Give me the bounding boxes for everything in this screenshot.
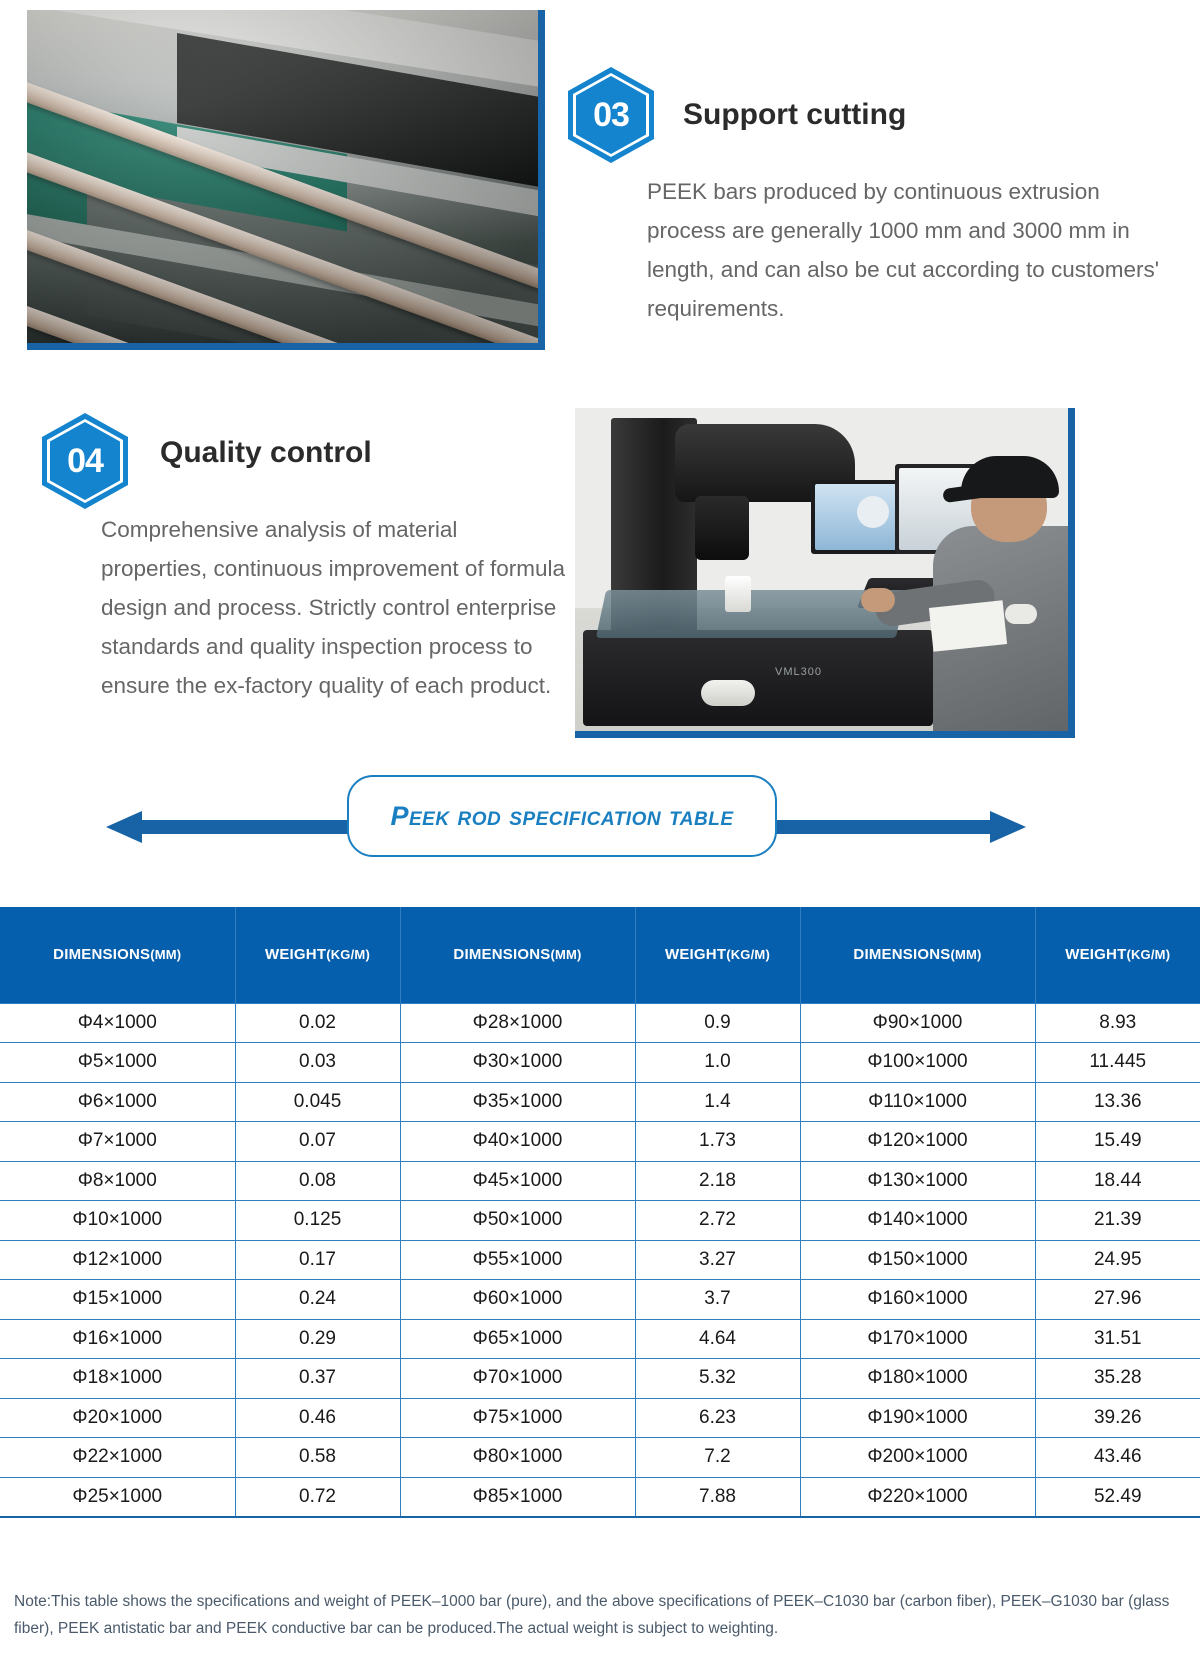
cell-dimension: Φ80×1000 — [400, 1438, 635, 1478]
photo-support-cutting — [27, 10, 545, 350]
cell-weight: 0.9 — [635, 1003, 800, 1043]
peek-rod-spec-table: DIMENSIONS(MM) WEIGHT(KG/M) DIMENSIONS(M… — [0, 907, 1200, 1518]
cell-weight: 3.7 — [635, 1280, 800, 1320]
header-unit-text: (MM) — [150, 947, 181, 962]
cell-weight: 18.44 — [1035, 1161, 1200, 1201]
table-row: Φ5×10000.03Φ30×10001.0Φ100×100011.445 — [0, 1043, 1200, 1083]
cell-weight: 0.03 — [235, 1043, 400, 1083]
operator-hand — [861, 588, 895, 612]
table-row: Φ8×10000.08Φ45×10002.18Φ130×100018.44 — [0, 1161, 1200, 1201]
cell-dimension: Φ35×1000 — [400, 1082, 635, 1122]
header-unit-text: (KG/M) — [326, 947, 370, 962]
cell-dimension: Φ28×1000 — [400, 1003, 635, 1043]
banner-title: Peek rod specification table — [390, 801, 733, 832]
cell-weight: 0.37 — [235, 1359, 400, 1399]
table-row: Φ7×10000.07Φ40×10001.73Φ120×100015.49 — [0, 1122, 1200, 1162]
cell-weight: 0.17 — [235, 1240, 400, 1280]
cell-dimension: Φ7×1000 — [0, 1122, 235, 1162]
header-unit-text: (KG/M) — [1126, 947, 1170, 962]
cell-weight: 13.36 — [1035, 1082, 1200, 1122]
step-badge-04: 04 — [42, 413, 128, 509]
cell-weight: 7.88 — [635, 1477, 800, 1517]
cell-dimension: Φ15×1000 — [0, 1280, 235, 1320]
cell-weight: 39.26 — [1035, 1398, 1200, 1438]
cell-dimension: Φ25×1000 — [0, 1477, 235, 1517]
cell-weight: 0.72 — [235, 1477, 400, 1517]
cell-weight: 0.46 — [235, 1398, 400, 1438]
cell-dimension: Φ130×1000 — [800, 1161, 1035, 1201]
paper-sheet — [929, 600, 1007, 651]
step-number-03: 03 — [568, 67, 654, 163]
machine-base — [583, 630, 933, 726]
header-main-text: DIMENSIONS — [453, 946, 550, 963]
cell-weight: 0.08 — [235, 1161, 400, 1201]
cell-dimension: Φ220×1000 — [800, 1477, 1035, 1517]
cell-weight: 1.0 — [635, 1043, 800, 1083]
cell-dimension: Φ100×1000 — [800, 1043, 1035, 1083]
cell-dimension: Φ190×1000 — [800, 1398, 1035, 1438]
computer-mouse — [1005, 604, 1037, 624]
cell-dimension: Φ45×1000 — [400, 1161, 635, 1201]
sample-part — [725, 576, 751, 612]
cell-weight: 0.58 — [235, 1438, 400, 1478]
arrow-right-icon — [990, 811, 1026, 843]
cell-dimension: Φ55×1000 — [400, 1240, 635, 1280]
cell-weight: 6.23 — [635, 1398, 800, 1438]
cell-weight: 1.4 — [635, 1082, 800, 1122]
step-badge-03: 03 — [568, 67, 654, 163]
header-main-text: WEIGHT — [265, 946, 326, 963]
cell-weight: 2.72 — [635, 1201, 800, 1241]
cell-dimension: Φ150×1000 — [800, 1240, 1035, 1280]
cell-dimension: Φ65×1000 — [400, 1319, 635, 1359]
cell-dimension: Φ30×1000 — [400, 1043, 635, 1083]
table-row: Φ15×10000.24Φ60×10003.7Φ160×100027.96 — [0, 1280, 1200, 1320]
cell-weight: 7.2 — [635, 1438, 800, 1478]
cell-weight: 0.24 — [235, 1280, 400, 1320]
cell-dimension: Φ50×1000 — [400, 1201, 635, 1241]
table-row: Φ22×10000.58Φ80×10007.2Φ200×100043.46 — [0, 1438, 1200, 1478]
cell-dimension: Φ60×1000 — [400, 1280, 635, 1320]
cell-weight: 52.49 — [1035, 1477, 1200, 1517]
cell-weight: 2.18 — [635, 1161, 800, 1201]
table-row: Φ12×10000.17Φ55×10003.27Φ150×100024.95 — [0, 1240, 1200, 1280]
cell-dimension: Φ110×1000 — [800, 1082, 1035, 1122]
cell-weight: 43.46 — [1035, 1438, 1200, 1478]
table-row: Φ18×10000.37Φ70×10005.32Φ180×100035.28 — [0, 1359, 1200, 1399]
photo-quality-control: VML300 — [575, 408, 1075, 738]
cell-dimension: Φ6×1000 — [0, 1082, 235, 1122]
roller-part — [701, 680, 755, 706]
cell-dimension: Φ85×1000 — [400, 1477, 635, 1517]
spec-table-wrapper: DIMENSIONS(MM) WEIGHT(KG/M) DIMENSIONS(M… — [0, 907, 1200, 1518]
header-main-text: DIMENSIONS — [853, 946, 950, 963]
cell-dimension: Φ160×1000 — [800, 1280, 1035, 1320]
machine-model-label: VML300 — [775, 666, 822, 678]
cell-dimension: Φ40×1000 — [400, 1122, 635, 1162]
cell-dimension: Φ170×1000 — [800, 1319, 1035, 1359]
cell-dimension: Φ4×1000 — [0, 1003, 235, 1043]
column-header-dimensions-1: DIMENSIONS(MM) — [0, 907, 235, 1003]
cell-dimension: Φ8×1000 — [0, 1161, 235, 1201]
header-unit-text: (KG/M) — [726, 947, 770, 962]
spec-table-banner: Peek rod specification table — [0, 770, 1200, 880]
cell-weight: 5.32 — [635, 1359, 800, 1399]
cell-weight: 3.27 — [635, 1240, 800, 1280]
column-header-dimensions-3: DIMENSIONS(MM) — [800, 907, 1035, 1003]
table-header-row: DIMENSIONS(MM) WEIGHT(KG/M) DIMENSIONS(M… — [0, 907, 1200, 1003]
table-footnote: Note:This table shows the specifications… — [14, 1588, 1186, 1642]
arrow-left-bar — [140, 820, 370, 834]
cell-weight: 27.96 — [1035, 1280, 1200, 1320]
header-unit-text: (MM) — [950, 947, 981, 962]
cell-weight: 24.95 — [1035, 1240, 1200, 1280]
cell-dimension: Φ5×1000 — [0, 1043, 235, 1083]
cell-weight: 0.045 — [235, 1082, 400, 1122]
cell-dimension: Φ200×1000 — [800, 1438, 1035, 1478]
section-support-cutting: 03 Support cutting PEEK bars produced by… — [0, 0, 1200, 380]
section-body-04: Comprehensive analysis of material prope… — [101, 510, 569, 705]
cell-dimension: Φ75×1000 — [400, 1398, 635, 1438]
machine-glass-stage — [596, 590, 906, 638]
cell-weight: 1.73 — [635, 1122, 800, 1162]
table-row: Φ16×10000.29Φ65×10004.64Φ170×100031.51 — [0, 1319, 1200, 1359]
cell-dimension: Φ16×1000 — [0, 1319, 235, 1359]
table-row: Φ10×10000.125Φ50×10002.72Φ140×100021.39 — [0, 1201, 1200, 1241]
cell-dimension: Φ10×1000 — [0, 1201, 235, 1241]
column-header-weight-3: WEIGHT(KG/M) — [1035, 907, 1200, 1003]
cell-weight: 0.29 — [235, 1319, 400, 1359]
table-row: Φ4×10000.02Φ28×10000.9Φ90×10008.93 — [0, 1003, 1200, 1043]
cell-dimension: Φ70×1000 — [400, 1359, 635, 1399]
cell-dimension: Φ140×1000 — [800, 1201, 1035, 1241]
cell-dimension: Φ180×1000 — [800, 1359, 1035, 1399]
header-main-text: DIMENSIONS — [53, 946, 150, 963]
cell-weight: 35.28 — [1035, 1359, 1200, 1399]
column-header-weight-1: WEIGHT(KG/M) — [235, 907, 400, 1003]
photo-shading — [27, 10, 538, 343]
column-header-weight-2: WEIGHT(KG/M) — [635, 907, 800, 1003]
cell-dimension: Φ18×1000 — [0, 1359, 235, 1399]
machine-lens — [695, 496, 749, 560]
header-unit-text: (MM) — [550, 947, 581, 962]
cell-weight: 11.445 — [1035, 1043, 1200, 1083]
cell-dimension: Φ90×1000 — [800, 1003, 1035, 1043]
cell-weight: 0.02 — [235, 1003, 400, 1043]
arrow-left-icon — [106, 811, 142, 843]
section-body-03: PEEK bars produced by continuous extrusi… — [647, 172, 1167, 328]
step-number-04: 04 — [42, 413, 128, 509]
cell-dimension: Φ20×1000 — [0, 1398, 235, 1438]
cell-dimension: Φ120×1000 — [800, 1122, 1035, 1162]
cell-weight: 4.64 — [635, 1319, 800, 1359]
column-header-dimensions-2: DIMENSIONS(MM) — [400, 907, 635, 1003]
cell-weight: 31.51 — [1035, 1319, 1200, 1359]
cell-weight: 0.125 — [235, 1201, 400, 1241]
table-row: Φ25×10000.72Φ85×10007.88Φ220×100052.49 — [0, 1477, 1200, 1517]
table-row: Φ20×10000.46Φ75×10006.23Φ190×100039.26 — [0, 1398, 1200, 1438]
section-title-03: Support cutting — [683, 98, 906, 132]
table-header: DIMENSIONS(MM) WEIGHT(KG/M) DIMENSIONS(M… — [0, 907, 1200, 1003]
cell-weight: 8.93 — [1035, 1003, 1200, 1043]
table-row: Φ6×10000.045Φ35×10001.4Φ110×100013.36 — [0, 1082, 1200, 1122]
section-title-04: Quality control — [160, 436, 372, 470]
cell-dimension: Φ12×1000 — [0, 1240, 235, 1280]
cell-weight: 0.07 — [235, 1122, 400, 1162]
cell-dimension: Φ22×1000 — [0, 1438, 235, 1478]
cell-weight: 15.49 — [1035, 1122, 1200, 1162]
header-main-text: WEIGHT — [665, 946, 726, 963]
banner-pill: Peek rod specification table — [347, 775, 777, 857]
cell-weight: 21.39 — [1035, 1201, 1200, 1241]
table-body: Φ4×10000.02Φ28×10000.9Φ90×10008.93Φ5×100… — [0, 1003, 1200, 1517]
arrow-right-bar — [760, 820, 990, 834]
header-main-text: WEIGHT — [1065, 946, 1126, 963]
